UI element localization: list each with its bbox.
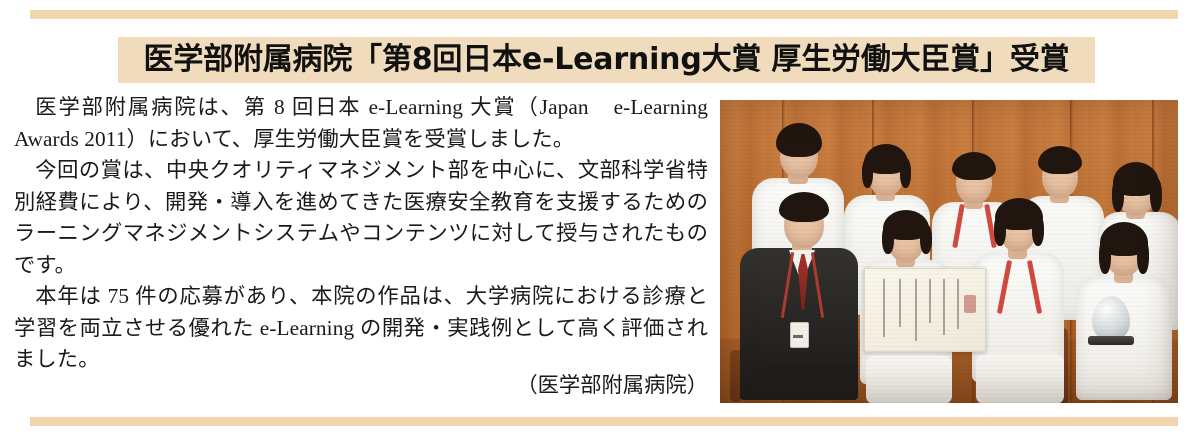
bottom-divider-rule — [30, 417, 1178, 426]
award-ceremony-photo — [720, 100, 1178, 403]
award-certificate — [864, 268, 986, 352]
page-title: 医学部附属病院「第8回日本e-Learning大賞 厚生労働大臣賞」受賞 — [144, 45, 1070, 75]
award-trophy-base — [1088, 336, 1134, 345]
top-divider-rule — [30, 10, 1178, 19]
id-badge — [790, 322, 809, 348]
article-credit: （医学部附属病院） — [14, 370, 714, 402]
article-paragraph-3: 本年は 75 件の応募があり、本院の作品は、大学病院における診療と学習を両立させ… — [14, 281, 708, 376]
certificate-seal — [964, 295, 976, 313]
headline-banner: 医学部附属病院「第8回日本e-Learning大賞 厚生労働大臣賞」受賞 — [118, 37, 1095, 83]
award-trophy — [1092, 296, 1130, 340]
article-paragraph-1: 医学部附属病院は、第 8 回日本 e-Learning 大賞（Japan e-L… — [14, 92, 708, 155]
article-body: 医学部附属病院は、第 8 回日本 e-Learning 大賞（Japan e-L… — [14, 92, 708, 376]
article-paragraph-2: 今回の賞は、中央クオリティマネジメント部を中心に、文部科学省特別経費により、開発… — [14, 155, 708, 281]
photo-content — [720, 100, 1178, 403]
